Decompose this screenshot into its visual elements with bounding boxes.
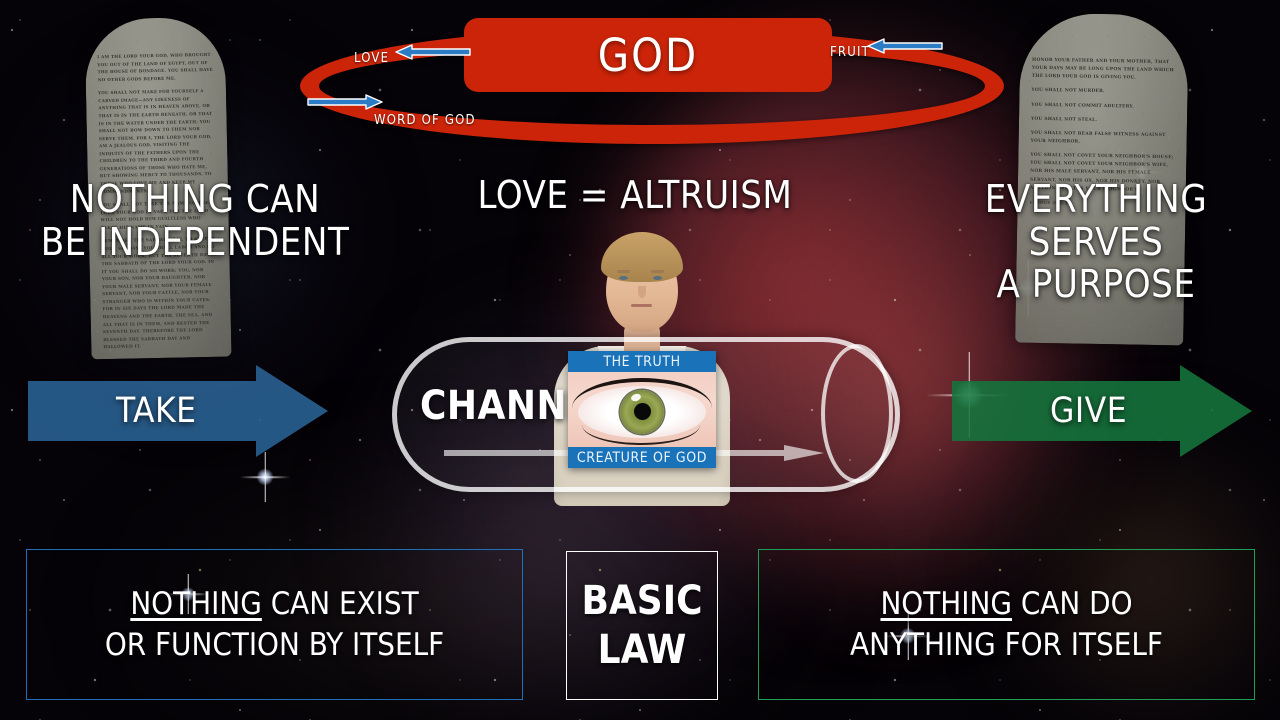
take-arrow: TAKE	[28, 365, 328, 457]
headline-left-line2: BE INDEPENDENT	[30, 221, 360, 264]
bottom-box-left-line1-underlined: NOTHING	[130, 586, 262, 622]
bottom-box-left-line1: NOTHING CAN EXIST	[105, 584, 444, 624]
headline-right: EVERYTHING SERVES A PURPOSE	[920, 178, 1272, 306]
bottom-box-center-line2: LAW	[582, 626, 703, 675]
bottom-box-left-line1-rest: CAN EXIST	[262, 586, 419, 622]
eye-card-top-label: THE TRUTH	[568, 351, 716, 372]
person-eyebrow-right	[651, 270, 664, 273]
person-eyebrow-left	[617, 270, 630, 273]
bottom-box-left-text: NOTHING CAN EXIST OR FUNCTION BY ITSELF	[105, 584, 444, 665]
tablet-paragraph: Honor your father and your mother, that …	[1032, 57, 1176, 84]
headline-right-line1: EVERYTHING SERVES	[920, 178, 1272, 263]
person-eye-right	[653, 276, 662, 280]
arrow-left-fruit-icon	[866, 38, 944, 54]
bottom-box-center: BASIC LAW	[566, 551, 718, 700]
god-label: GOD	[598, 29, 698, 82]
headline-right-line2: A PURPOSE	[920, 263, 1272, 306]
person-mouth	[631, 304, 652, 307]
headline-center: LOVE = ALTRUISM	[420, 174, 850, 217]
tablet-paragraph: You shall not commit adultery.	[1031, 101, 1175, 112]
channel-end-cap	[821, 344, 893, 483]
headline-left-line1: NOTHING CAN	[30, 178, 360, 221]
bottom-box-left: NOTHING CAN EXIST OR FUNCTION BY ITSELF	[26, 549, 523, 700]
tablet-paragraph: You shall not steal.	[1031, 115, 1175, 126]
tablet-paragraph: I am the Lord your God, who brought you …	[97, 51, 214, 84]
headline-left: NOTHING CAN BE INDEPENDENT	[30, 178, 360, 263]
eye-card: THE TRUTH CREATURE OF GOD	[568, 351, 716, 468]
ring-label-fruit: FRUIT	[830, 45, 870, 60]
eye-photo	[568, 372, 716, 447]
bottom-box-right-line1: NOTHING CAN DO	[850, 584, 1163, 624]
take-arrow-label: TAKE	[28, 365, 328, 457]
give-arrow-label: GIVE	[952, 365, 1252, 457]
bottom-box-center-line1: BASIC	[582, 577, 703, 626]
give-arrow: GIVE	[952, 365, 1252, 457]
god-banner: GOD	[464, 18, 832, 92]
bottom-box-right-text: NOTHING CAN DO ANYTHING FOR ITSELF	[850, 584, 1163, 665]
eye-upper-lashes	[572, 378, 712, 408]
slide-canvas: I am the Lord your God, who brought you …	[0, 0, 1280, 720]
eye-lower-lashes	[582, 425, 700, 445]
person-hair	[601, 232, 683, 282]
bottom-box-right-line2: ANYTHING FOR ITSELF	[850, 625, 1163, 665]
bottom-box-right-line1-rest: CAN DO	[1012, 586, 1133, 622]
arrow-left-love-icon	[394, 44, 472, 60]
arrow-right-word-of-god-icon	[306, 94, 384, 110]
person-eye-left	[619, 276, 628, 280]
bottom-box-left-line2: OR FUNCTION BY ITSELF	[105, 625, 444, 665]
bottom-box-right: NOTHING CAN DO ANYTHING FOR ITSELF	[758, 549, 1255, 700]
bottom-box-right-line1-underlined: NOTHING	[880, 586, 1012, 622]
tablet-paragraph: You shall not murder.	[1031, 87, 1175, 98]
ring-label-love: LOVE	[354, 51, 389, 66]
tablet-paragraph: You shall not bear false witness against…	[1031, 130, 1175, 149]
eye-card-bottom-label: CREATURE OF GOD	[568, 447, 716, 468]
person-nose	[638, 286, 646, 298]
ring-label-word-of-god: WORD OF GOD	[374, 113, 476, 128]
bottom-box-center-text: BASIC LAW	[582, 577, 703, 675]
